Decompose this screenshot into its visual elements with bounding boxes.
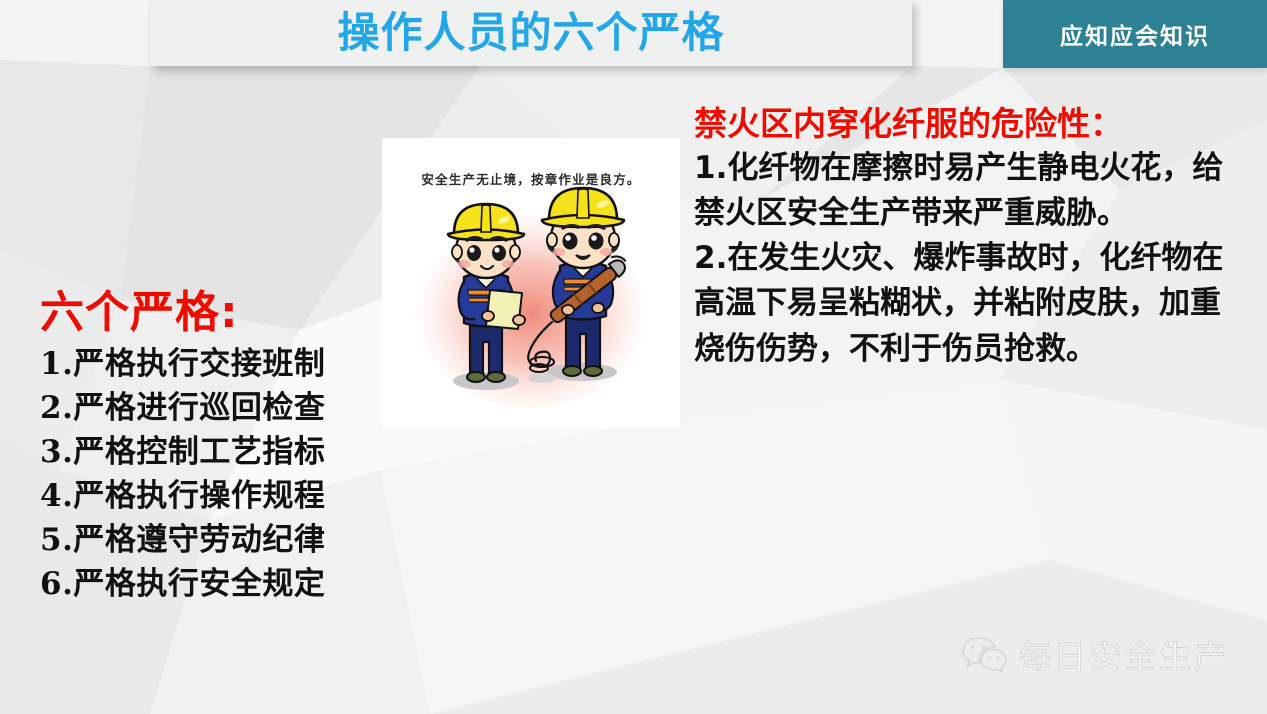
left-heading: 六个严格: <box>40 290 420 336</box>
list-item-number: 2. <box>40 390 73 426</box>
right-paragraph: 1.化纤物在摩擦时易产生静电火花，给禁火区安全生产带来严重威胁。 <box>694 146 1234 237</box>
list-item-label: 严格遵守劳动纪律 <box>73 522 325 558</box>
safety-cartoon-image: 安全生产无止境，按章作业是良方。 <box>382 138 680 428</box>
list-item-label: 严格执行安全规定 <box>73 566 325 602</box>
list-item-label: 严格执行操作规程 <box>73 478 325 514</box>
category-badge: 应知应会知识 <box>1003 0 1267 68</box>
list-item: 1.严格执行交接班制 <box>40 342 420 386</box>
list-item-label: 严格控制工艺指标 <box>73 434 325 470</box>
list-item-label: 严格执行交接班制 <box>73 346 325 382</box>
paragraph-number: 1. <box>694 150 727 186</box>
list-item-number: 5. <box>40 522 73 558</box>
list-item-number: 3. <box>40 434 73 470</box>
list-item: 5.严格遵守劳动纪律 <box>40 518 420 562</box>
right-column: 禁火区内穿化纤服的危险性： 1.化纤物在摩擦时易产生静电火花，给禁火区安全生产带… <box>694 104 1234 372</box>
list-item: 2.严格进行巡回检查 <box>40 386 420 430</box>
right-heading: 禁火区内穿化纤服的危险性： <box>694 104 1234 144</box>
list-item: 6.严格执行安全规定 <box>40 562 420 606</box>
paragraph-text: 在发生火灾、爆炸事故时，化纤物在高温下易呈粘糊状，并粘附皮肤，加重烧伤伤势，不利… <box>694 240 1223 367</box>
list-item-number: 6. <box>40 566 73 602</box>
category-badge-label: 应知应会知识 <box>1060 17 1210 51</box>
list-item-number: 1. <box>40 346 73 382</box>
wechat-icon <box>961 635 1007 675</box>
paragraph-number: 2. <box>694 240 727 276</box>
right-paragraph: 2.在发生火灾、爆炸事故时，化纤物在高温下易呈粘糊状，并粘附皮肤，加重烧伤伤势，… <box>694 236 1234 372</box>
illustration-caption: 安全生产无止境，按章作业是良方。 <box>421 172 640 187</box>
page-title: 操作人员的六个严格 <box>337 12 724 54</box>
list-item: 3.严格控制工艺指标 <box>40 430 420 474</box>
slide-root: 操作人员的六个严格 应知应会知识 六个严格: 1.严格执行交接班制 2.严格进行… <box>0 0 1267 714</box>
list-item-label: 严格进行巡回检查 <box>73 390 325 426</box>
six-strict-list: 1.严格执行交接班制 2.严格进行巡回检查 3.严格控制工艺指标 4.严格执行操… <box>40 342 420 606</box>
watermark: 每日安全生产 <box>961 632 1229 678</box>
list-item-number: 4. <box>40 478 73 514</box>
list-item: 4.严格执行操作规程 <box>40 474 420 518</box>
paragraph-text: 化纤物在摩擦时易产生静电火花，给禁火区安全生产带来严重威胁。 <box>694 150 1223 231</box>
left-column: 六个严格: 1.严格执行交接班制 2.严格进行巡回检查 3.严格控制工艺指标 4… <box>40 290 420 606</box>
watermark-label: 每日安全生产 <box>1019 632 1229 678</box>
slide-title-bar: 操作人员的六个严格 <box>150 0 912 66</box>
